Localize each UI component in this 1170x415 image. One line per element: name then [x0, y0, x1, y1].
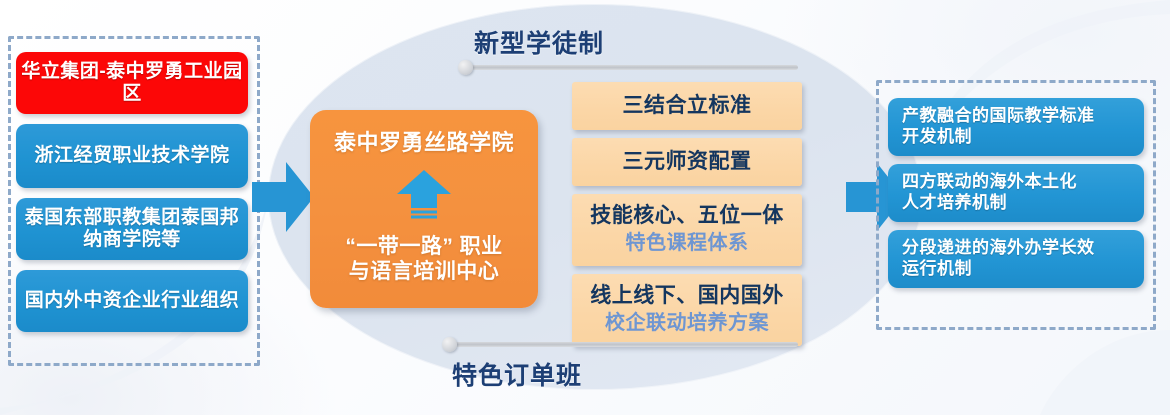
- feature-card-faculty[interactable]: 三元师资配置: [572, 138, 802, 186]
- leader-line-bottom: [452, 342, 798, 347]
- outcome-card-operation-mechanism[interactable]: 分段递进的海外办学长效 运行机制: [888, 230, 1144, 288]
- feature-card-main: 技能核心、五位一体: [590, 204, 784, 229]
- outcome-line1: 分段递进的海外办学长效: [902, 238, 1095, 259]
- outcome-line2: 开发机制: [902, 127, 972, 148]
- leader-dot-bottom: [442, 337, 457, 352]
- leader-line-top: [468, 65, 798, 70]
- partner-card-hualide[interactable]: 华立集团-泰中罗勇工业园区: [16, 52, 248, 114]
- feature-card-standards[interactable]: 三结合立标准: [572, 82, 802, 130]
- outcome-line1: 产教融合的国际教学标准: [902, 106, 1095, 127]
- callout-label-bottom: 特色订单班: [452, 356, 582, 392]
- outcome-line2: 人才培养机制: [902, 193, 1007, 214]
- outcome-line1: 四方联动的海外本土化: [902, 172, 1077, 193]
- leader-dot-top: [458, 60, 473, 75]
- hub-body-line2: 与语言培训中心: [349, 259, 500, 284]
- partner-card-thai-group[interactable]: 泰国东部职教集团泰国邦纳商学院等: [16, 198, 248, 260]
- up-arrow-icon: [394, 168, 454, 220]
- feature-card-main: 线上线下、国内国外: [590, 284, 784, 309]
- partner-card-zhejiang-college[interactable]: 浙江经贸职业技术学院: [16, 124, 248, 188]
- hub-body-line1: “一带一路” 职业: [345, 234, 502, 259]
- feature-card-curriculum[interactable]: 技能核心、五位一体 特色课程体系: [572, 194, 802, 266]
- outcome-card-talent-mechanism[interactable]: 四方联动的海外本土化 人才培养机制: [888, 164, 1144, 222]
- callout-label-top: 新型学徒制: [474, 24, 604, 60]
- feature-card-sub: 特色课程体系: [626, 232, 749, 256]
- outcome-card-standards-mechanism[interactable]: 产教融合的国际教学标准 开发机制: [888, 98, 1144, 156]
- diagram-canvas: 华立集团-泰中罗勇工业园区 浙江经贸职业技术学院 泰国东部职教集团泰国邦纳商学院…: [0, 0, 1170, 415]
- feature-card-training-plan[interactable]: 线上线下、国内国外 校企联动培养方案: [572, 274, 802, 346]
- hub-title: 泰中罗勇丝路学院: [334, 130, 514, 156]
- outcome-line2: 运行机制: [902, 259, 972, 280]
- arrow-left-to-center-icon: [252, 158, 314, 236]
- partner-card-enterprises[interactable]: 国内外中资企业行业组织: [16, 270, 248, 332]
- center-hub-card[interactable]: 泰中罗勇丝路学院 “一带一路” 职业 与语言培训中心: [310, 110, 538, 308]
- feature-card-sub: 校企联动培养方案: [605, 312, 769, 336]
- feature-card-main: 三结合立标准: [623, 94, 752, 119]
- feature-card-main: 三元师资配置: [623, 150, 752, 175]
